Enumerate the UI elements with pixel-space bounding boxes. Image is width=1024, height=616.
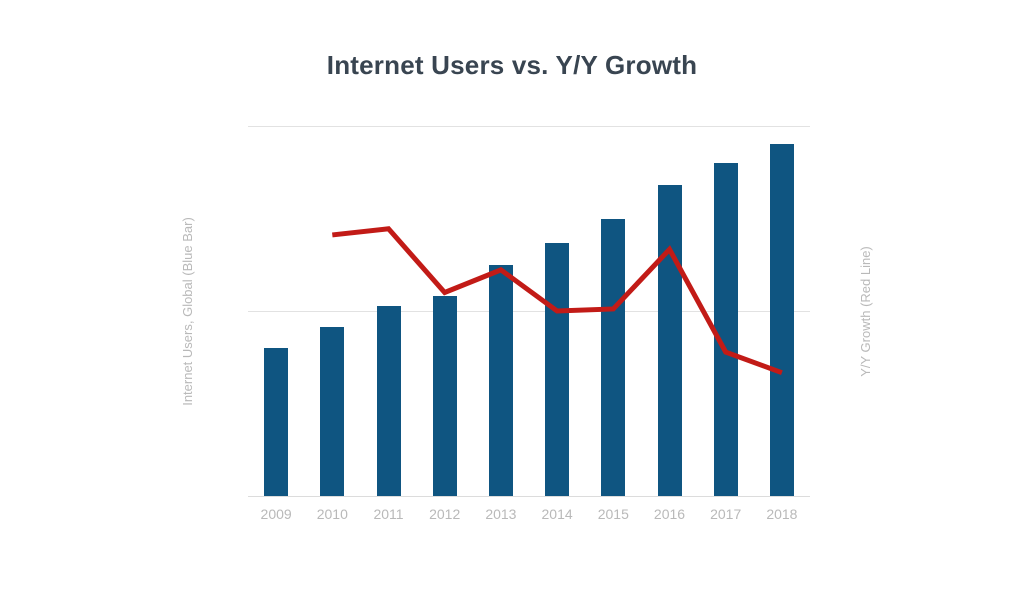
x-tick-label-2015: 2015 xyxy=(583,506,643,522)
right-axis-label-text: Y/Y Growth (Red Line) xyxy=(858,246,873,377)
chart-title: Internet Users vs. Y/Y Growth xyxy=(0,50,1024,81)
gridline xyxy=(248,496,810,497)
growth-line xyxy=(332,229,782,373)
x-tick-label-2014: 2014 xyxy=(527,506,587,522)
x-tick-label-2009: 2009 xyxy=(246,506,306,522)
x-tick-label-2018: 2018 xyxy=(752,506,812,522)
left-axis-label-text: Internet Users, Global (Blue Bar) xyxy=(180,217,195,406)
x-tick-label-2017: 2017 xyxy=(696,506,756,522)
chart-figure: Internet Users vs. Y/Y Growth Internet U… xyxy=(0,0,1024,616)
left-axis-label: Internet Users, Global (Blue Bar) xyxy=(178,126,196,496)
line-series xyxy=(248,126,810,496)
plot-area: 02B4B 0%9%18% 20092010201120122013201420… xyxy=(248,126,810,496)
x-tick-label-2010: 2010 xyxy=(302,506,362,522)
x-tick-label-2012: 2012 xyxy=(415,506,475,522)
right-axis-label: Y/Y Growth (Red Line) xyxy=(856,126,874,496)
x-tick-label-2016: 2016 xyxy=(640,506,700,522)
x-tick-label-2011: 2011 xyxy=(359,506,419,522)
x-tick-label-2013: 2013 xyxy=(471,506,531,522)
